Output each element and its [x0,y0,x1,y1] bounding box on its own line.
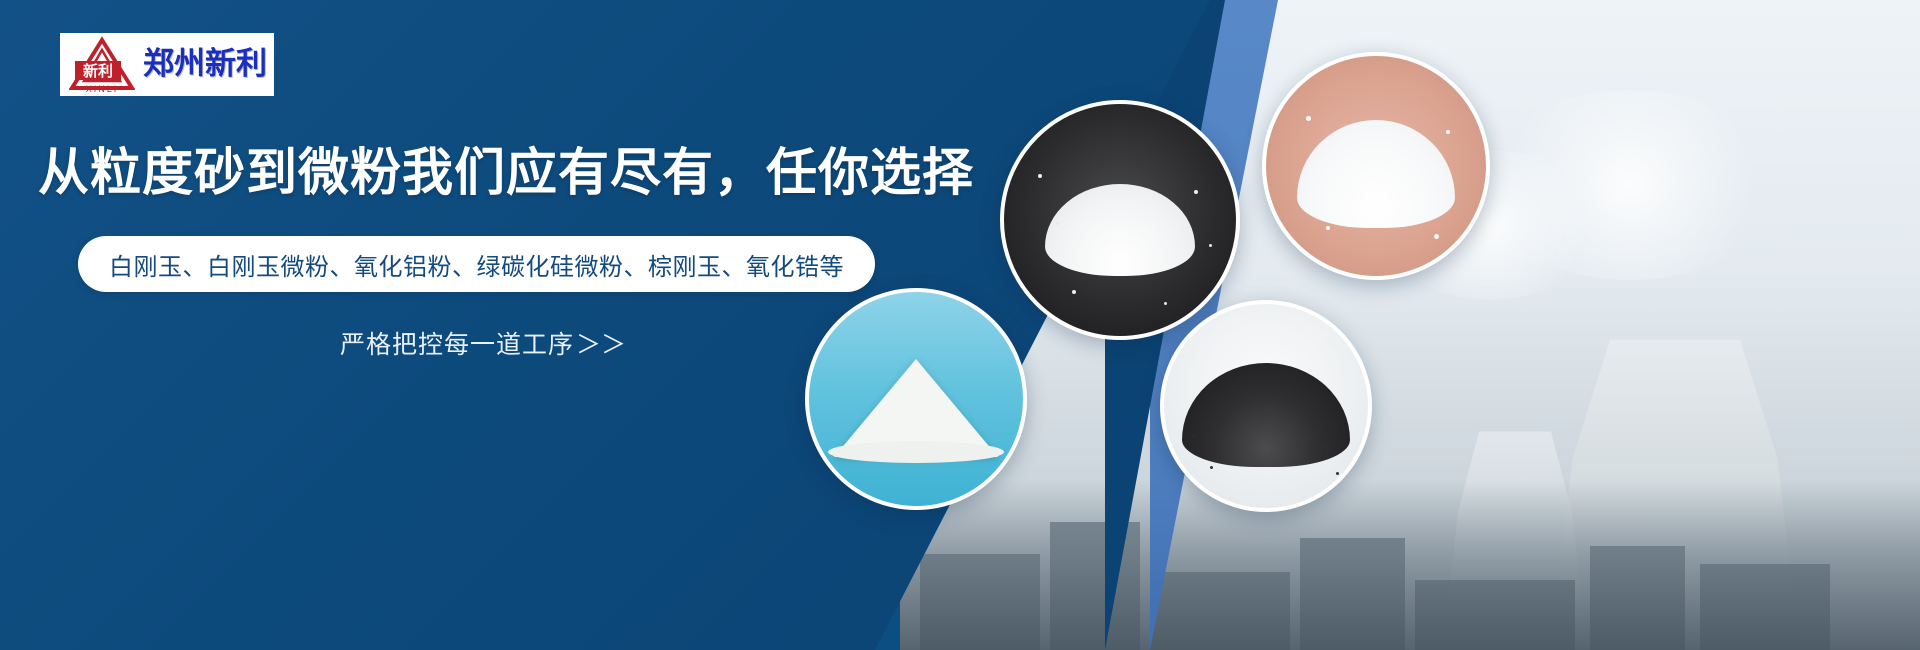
xinli-triangle-icon: 新利 XINLI [69,36,135,93]
cta-link[interactable]: 严格把控每一道工序＞＞ [340,325,626,361]
product-list-text: 白刚玉、白刚玉微粉、氧化铝粉、绿碳化硅微粉、棕刚玉、氧化锆等 [109,247,844,282]
chevron-right-icon: ＞＞ [574,330,626,359]
powder-pile [1045,184,1195,276]
powder-pile [1297,120,1455,228]
company-logo[interactable]: 新利 XINLI 郑州新利 [60,33,274,96]
company-name: 郑州新利 [143,49,267,80]
granule-pile [1182,363,1350,467]
product-image-white-powder [1262,52,1490,280]
promo-banner: 新利 XINLI 郑州新利 从粒度砂到微粉我们应有尽有，任你选择 白刚玉、白刚玉… [0,0,1920,650]
product-list-pill: 白刚玉、白刚玉微粉、氧化铝粉、绿碳化硅微粉、棕刚玉、氧化锆等 [78,236,875,292]
product-image-black-granules [1160,300,1372,512]
powder-cone-base [828,441,1004,463]
logo-mark-inner-text: 新利 [83,62,113,80]
product-image-white-grain [1000,100,1240,340]
logo-mark-roman-text: XINLI [86,84,119,93]
product-image-alumina-cone [805,288,1027,510]
page-title: 从粒度砂到微粉我们应有尽有，任你选择 [38,143,974,204]
haze-overlay [900,480,1920,650]
cta-label: 严格把控每一道工序 [340,330,574,359]
